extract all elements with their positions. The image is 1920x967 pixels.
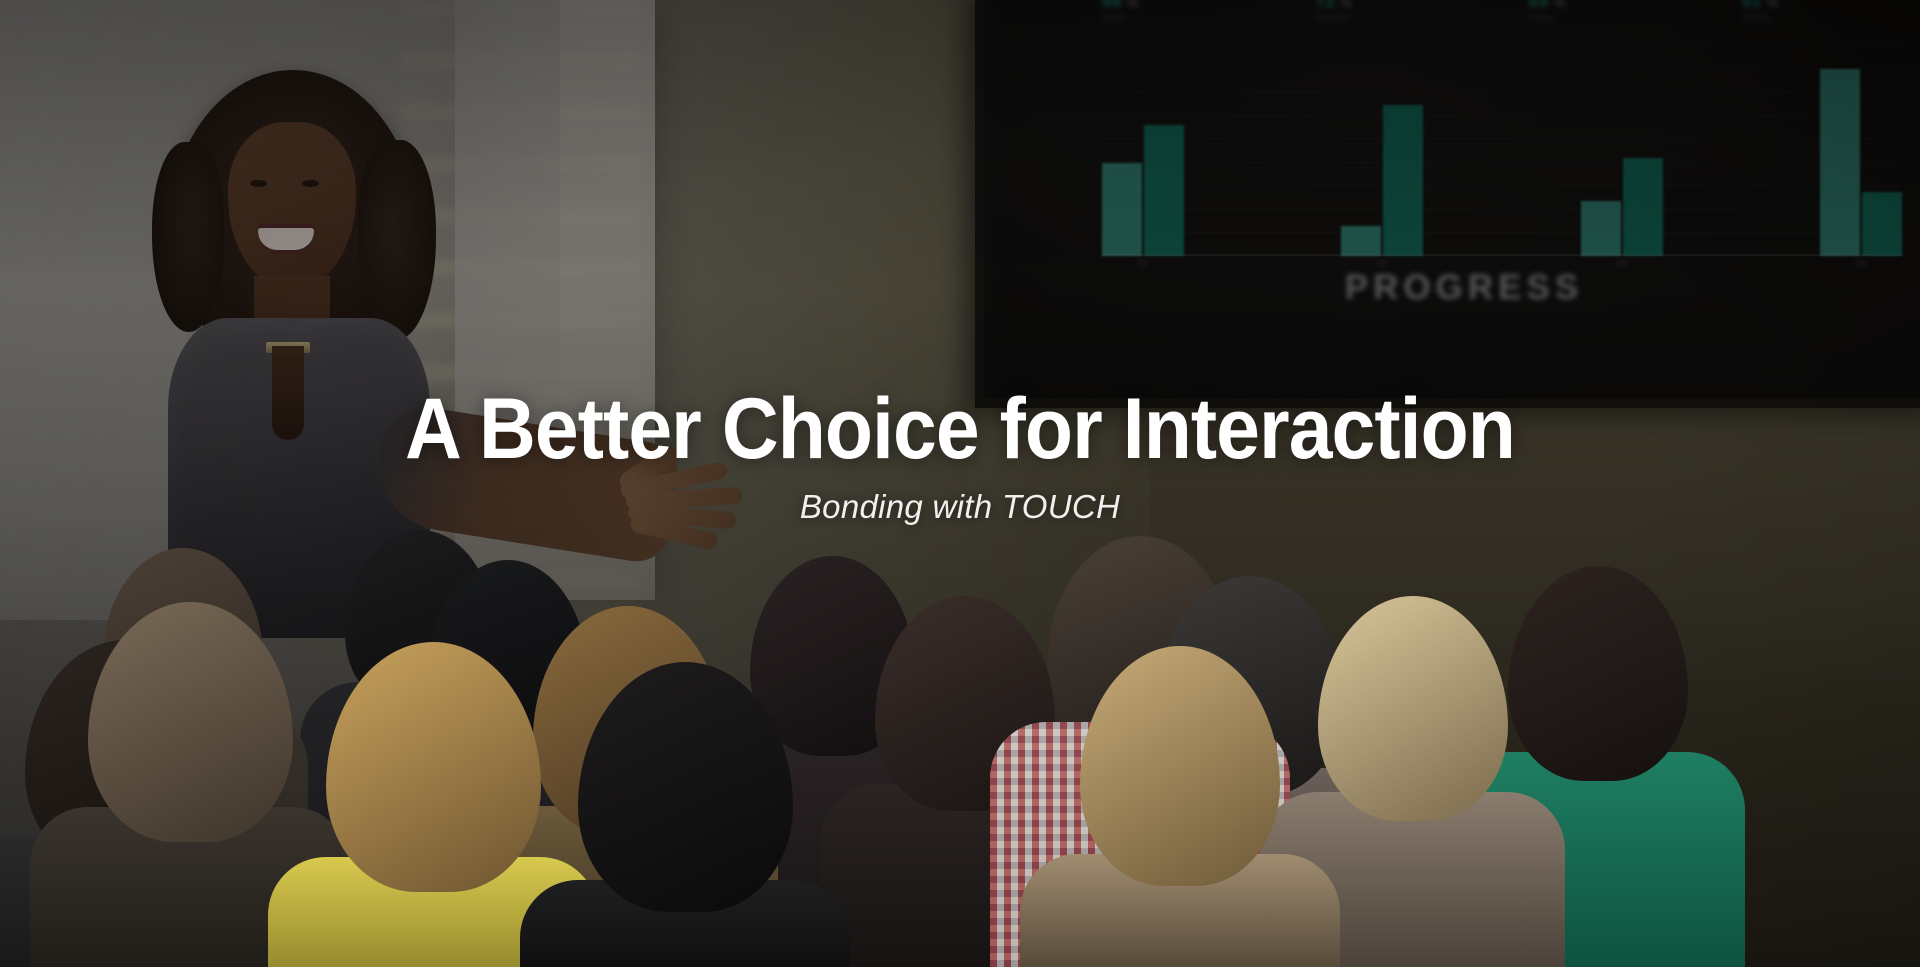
chart-bar bbox=[1581, 201, 1621, 256]
chart-bar bbox=[1102, 163, 1142, 256]
chart-bar bbox=[1341, 226, 1381, 256]
chart-bars bbox=[1102, 44, 1902, 256]
bar-group bbox=[1102, 125, 1184, 256]
kpi-item: 72 % REACH bbox=[1315, 0, 1465, 23]
hero-banner: 86 % RATE 72 % REACH 64 % bbox=[0, 0, 1920, 967]
presenter-eye-right bbox=[302, 180, 319, 187]
kpi-sublabel: TOTAL bbox=[1742, 14, 1892, 23]
presenter-eye-left bbox=[250, 180, 267, 187]
kpi-value: 86 bbox=[1102, 0, 1122, 12]
kpi-unit: % bbox=[1340, 0, 1353, 10]
bar-chart: Q1Q2Q3Q4 bbox=[1102, 44, 1902, 256]
presenter-smile bbox=[258, 228, 314, 250]
kpi-value: 64 bbox=[1529, 0, 1549, 12]
bar-group bbox=[1341, 105, 1423, 256]
chart-bar bbox=[1862, 192, 1902, 256]
kpi-sublabel: GOAL bbox=[1529, 14, 1679, 23]
kpi-strip: 86 % RATE 72 % REACH 64 % bbox=[1102, 0, 1892, 38]
kpi-unit: % bbox=[1127, 0, 1140, 10]
audience-head bbox=[326, 642, 541, 892]
kpi-sublabel: REACH bbox=[1315, 14, 1465, 23]
bar-group bbox=[1820, 69, 1902, 256]
audience-member bbox=[1020, 646, 1340, 967]
chart-axis bbox=[1102, 254, 1902, 256]
audience-member bbox=[520, 662, 850, 967]
chart-bar bbox=[1820, 69, 1860, 256]
screen-caption: PROGRESS bbox=[984, 268, 1920, 308]
chart-bar bbox=[1144, 125, 1184, 256]
kpi-unit: % bbox=[1554, 0, 1567, 10]
chart-bar bbox=[1383, 105, 1423, 256]
presentation-screen: 86 % RATE 72 % REACH 64 % bbox=[975, 0, 1920, 408]
presenter-neckline bbox=[272, 346, 304, 440]
kpi-sublabel: RATE bbox=[1102, 14, 1252, 23]
chart-bar bbox=[1623, 158, 1663, 256]
audience-head bbox=[578, 662, 793, 912]
kpi-item: 64 % GOAL bbox=[1529, 0, 1679, 23]
bar-group bbox=[1581, 158, 1663, 256]
kpi-value: 72 bbox=[1315, 0, 1335, 12]
kpi-value: 91 bbox=[1742, 0, 1762, 12]
kpi-unit: % bbox=[1767, 0, 1780, 10]
audience-head bbox=[1318, 596, 1508, 821]
audience-head bbox=[1080, 646, 1280, 886]
presenter-hand bbox=[620, 460, 750, 546]
screen-surface: 86 % RATE 72 % REACH 64 % bbox=[984, 0, 1920, 398]
audience-head bbox=[88, 602, 293, 842]
kpi-item: 91 % TOTAL bbox=[1742, 0, 1892, 23]
kpi-item: 86 % RATE bbox=[1102, 0, 1252, 23]
